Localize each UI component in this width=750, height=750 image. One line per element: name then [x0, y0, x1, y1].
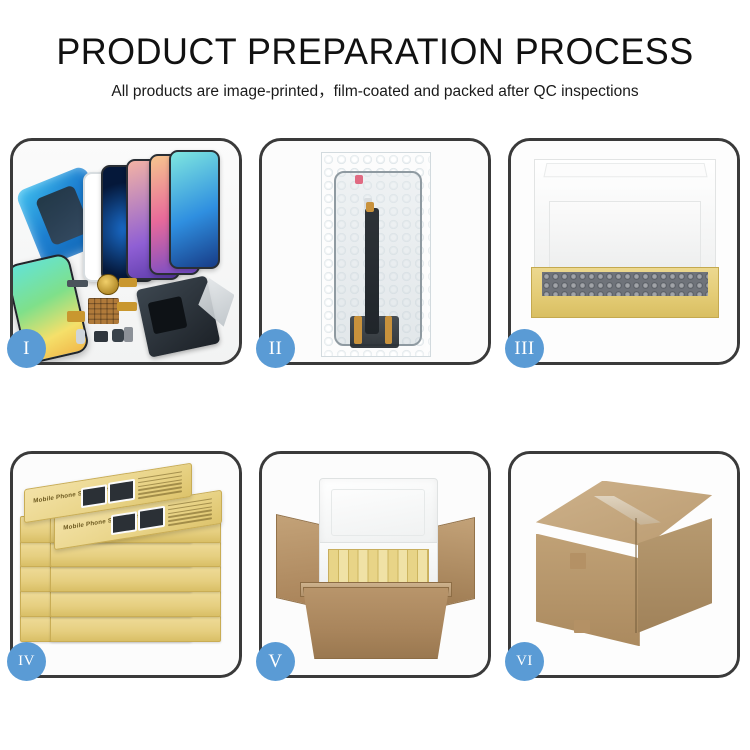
process-steps-grid: I II [10, 138, 740, 678]
step-badge-6: VI [505, 642, 544, 681]
antenna-cable-icon [119, 278, 137, 287]
pink-label-icon [355, 175, 363, 183]
connector-right-icon [385, 316, 393, 344]
step-6-image [511, 454, 737, 675]
stacked-box [50, 615, 222, 642]
connector-top-icon [366, 202, 374, 212]
box-lid-flap-icon [544, 163, 708, 177]
box-print-screen-a [81, 484, 107, 508]
box-checklist [138, 470, 183, 500]
carton-body-icon [303, 587, 450, 660]
box-checklist [167, 496, 212, 526]
connector-icon [76, 329, 85, 344]
yellow-box-tray-icon [531, 267, 718, 318]
box-print-screen-b [138, 506, 165, 530]
step-badge-2: II [256, 329, 295, 368]
step-3-image [511, 141, 737, 362]
tape-patch-upper [570, 553, 586, 568]
button-part-icon [112, 329, 123, 342]
carton-corner-edge [635, 518, 637, 633]
ribbon-cable-icon [117, 302, 137, 311]
camera-module-icon [94, 331, 108, 342]
step-panel-6: VI [508, 451, 740, 678]
product-preparation-infographic: PRODUCT PREPARATION PROCESS All products… [0, 0, 750, 750]
sim-tray-icon [124, 327, 133, 342]
page-title: PRODUCT PREPARATION PROCESS [11, 30, 739, 74]
page-subtitle: All products are image-printed，film-coat… [0, 81, 750, 103]
foam-cooler-lid-icon [319, 478, 439, 546]
flex-cable-icon [365, 208, 379, 334]
chip-array-icon [88, 298, 120, 325]
step-4-image: Mobile Phone Spare Parts [13, 454, 239, 675]
stacked-box [50, 565, 222, 592]
step-badge-4: IV [7, 642, 46, 681]
bubble-wrapped-contents-icon [542, 272, 709, 296]
step-1-image [13, 141, 239, 362]
step-panel-3: III [508, 138, 740, 365]
box-print-screen-a [111, 511, 137, 535]
phone-teal-icon [169, 150, 220, 269]
flex-cable-icon [67, 311, 85, 322]
speaker-coil-icon [97, 274, 119, 296]
step-panel-2: II [259, 138, 491, 365]
connector-left-icon [354, 316, 362, 344]
step-panel-4: Mobile Phone Spare Parts [10, 451, 242, 678]
step-panel-1: I [10, 138, 242, 365]
bubble-wrap-bag-icon [321, 152, 431, 357]
foam-sheet-icon [549, 201, 700, 276]
step-5-image [262, 454, 488, 675]
step-panel-5: V [259, 451, 491, 678]
step-badge-3: III [505, 329, 544, 368]
step-2-image [262, 141, 488, 362]
step-badge-5: V [256, 642, 295, 681]
stacked-box [50, 590, 222, 617]
header: PRODUCT PREPARATION PROCESS All products… [0, 0, 750, 103]
box-print-screen-b [108, 479, 135, 503]
box-stack-icon: Mobile Phone Spare Parts [20, 476, 232, 666]
part-strip-icon [67, 280, 87, 287]
step-badge-1: I [7, 329, 46, 368]
tape-patch-lower [574, 620, 590, 633]
